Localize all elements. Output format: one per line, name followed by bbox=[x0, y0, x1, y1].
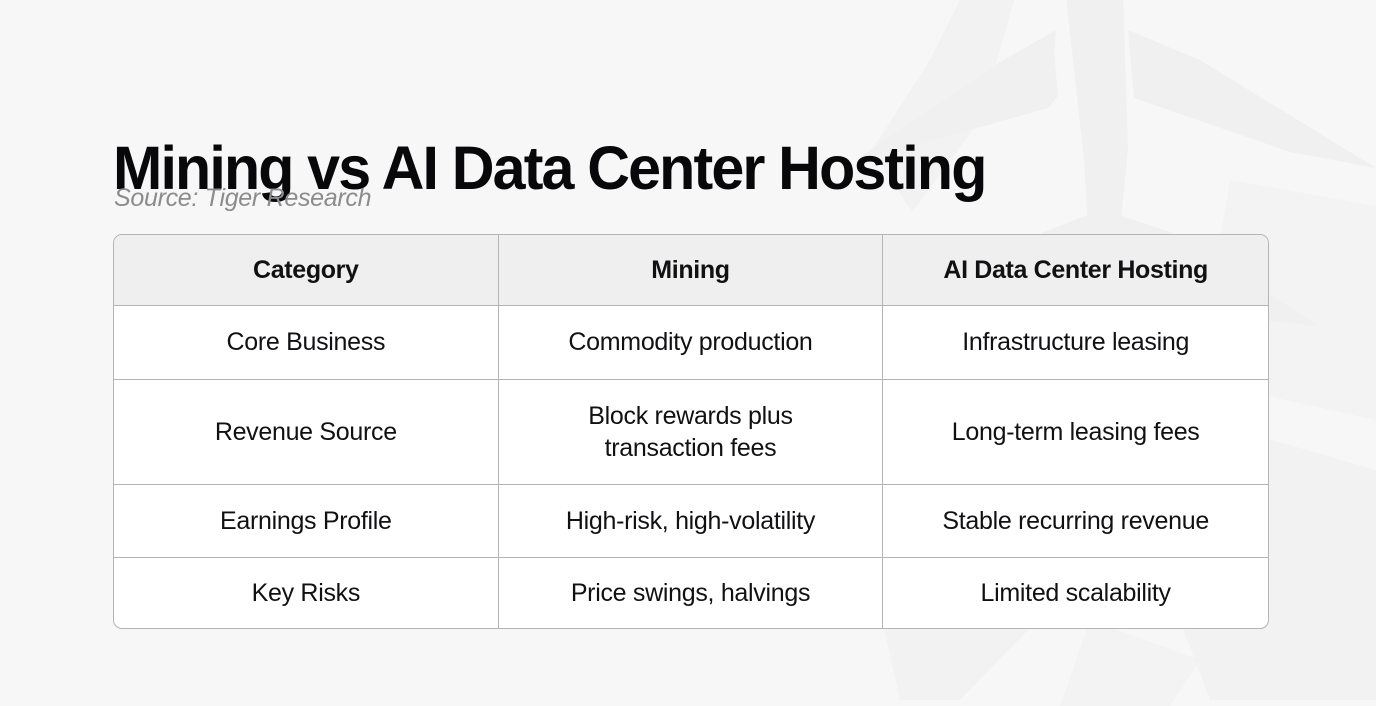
cell-mining: Commodity production bbox=[499, 306, 884, 380]
cell-mining: Block rewards plus transaction fees bbox=[499, 380, 884, 485]
table-body: Core Business Commodity production Infra… bbox=[114, 306, 1268, 628]
cell-ai-hosting: Long-term leasing fees bbox=[883, 380, 1268, 485]
table-header-row: Category Mining AI Data Center Hosting bbox=[114, 235, 1268, 306]
column-header-category: Category bbox=[114, 235, 499, 306]
table-row: Core Business Commodity production Infra… bbox=[114, 306, 1268, 380]
page-content: Mining vs AI Data Center Hosting Source:… bbox=[0, 0, 1376, 706]
column-header-mining: Mining bbox=[499, 235, 884, 306]
cell-category: Revenue Source bbox=[114, 380, 499, 485]
table-header: Category Mining AI Data Center Hosting bbox=[114, 235, 1268, 306]
cell-ai-hosting: Infrastructure leasing bbox=[883, 306, 1268, 380]
cell-ai-hosting: Stable recurring revenue bbox=[883, 485, 1268, 558]
cell-category: Earnings Profile bbox=[114, 485, 499, 558]
page-subtitle-source: Source: Tiger Research bbox=[114, 184, 371, 213]
comparison-table: Category Mining AI Data Center Hosting C… bbox=[113, 234, 1269, 629]
cell-category: Core Business bbox=[114, 306, 499, 380]
table-row: Revenue Source Block rewards plus transa… bbox=[114, 380, 1268, 485]
cell-mining: Price swings, halvings bbox=[499, 558, 884, 628]
table-row: Earnings Profile High-risk, high-volatil… bbox=[114, 485, 1268, 558]
cell-ai-hosting: Limited scalability bbox=[883, 558, 1268, 628]
column-header-ai-hosting: AI Data Center Hosting bbox=[883, 235, 1268, 306]
cell-category: Key Risks bbox=[114, 558, 499, 628]
table-row: Key Risks Price swings, halvings Limited… bbox=[114, 558, 1268, 628]
cell-mining: High-risk, high-volatility bbox=[499, 485, 884, 558]
